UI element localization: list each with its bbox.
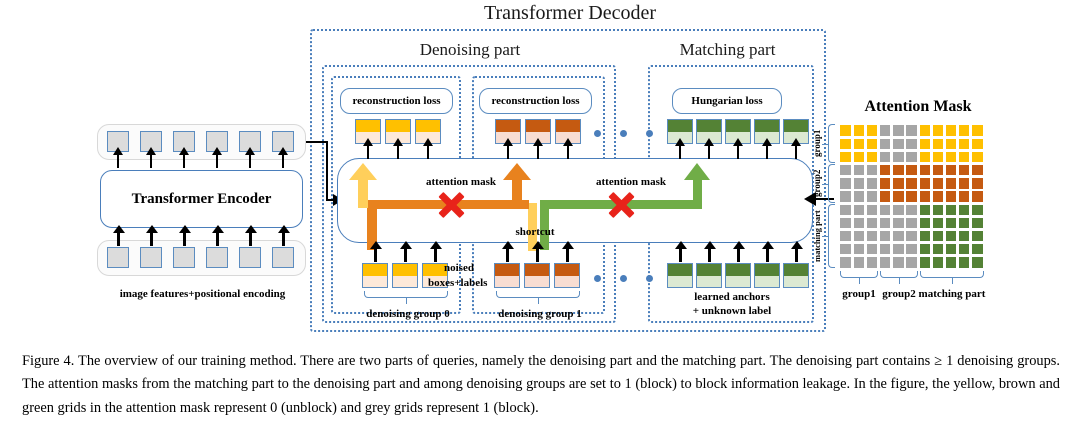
mask-cell (905, 190, 918, 203)
ellipsis-dot-bottom (620, 275, 627, 282)
transformer-encoder-box: Transformer Encoder (100, 170, 303, 228)
mask-cell (918, 137, 931, 150)
yellow-up-bar (358, 178, 368, 208)
ellipsis-dot-top (646, 130, 653, 137)
mask-cell (958, 243, 971, 256)
mask-cell (931, 216, 944, 229)
input-arrow-dn-group1 (566, 248, 569, 262)
output-arrow-matching (795, 145, 797, 159)
mask-cell (879, 190, 892, 203)
yellow-arrow-head (349, 163, 377, 180)
mask-cell (971, 190, 984, 203)
mask-cell (879, 230, 892, 243)
input-token-matching (725, 263, 751, 288)
ellipsis-dot-top (620, 130, 627, 137)
mask-cell (958, 137, 971, 150)
noised-label-line2: boxes+labels (428, 277, 487, 289)
mask-cell (945, 203, 958, 216)
mask-cell (852, 256, 865, 269)
mask-cell (852, 230, 865, 243)
output-arrow-dn-group0 (427, 145, 429, 159)
mask-cell (958, 216, 971, 229)
mask-cell (905, 137, 918, 150)
mask-cell (865, 216, 878, 229)
mask-cell (918, 243, 931, 256)
mask-cell (918, 230, 931, 243)
output-arrow-dn-group1 (567, 145, 569, 159)
hungarian-loss-box: Hungarian loss (672, 88, 782, 114)
mask-cell (918, 216, 931, 229)
output-arrow-dn-group0 (367, 145, 369, 159)
mask-cell (892, 216, 905, 229)
mask-cell (918, 256, 931, 269)
encoder-input-arrow (117, 232, 120, 246)
mask-cell (945, 190, 958, 203)
mask-cell (958, 230, 971, 243)
mask-cell (905, 256, 918, 269)
output-arrow-matching (679, 145, 681, 159)
mask-cell (839, 150, 852, 163)
mask-cell (839, 216, 852, 229)
encoder-output-arrow (150, 154, 152, 168)
mask-row-brace-matching (828, 204, 835, 268)
output-arrow-matching (708, 145, 710, 159)
mask-cell (971, 177, 984, 190)
mask-cell (945, 243, 958, 256)
mask-cell (918, 124, 931, 137)
mask-col-brace-matching (920, 271, 984, 278)
mask-cell (879, 177, 892, 190)
mask-cell (931, 177, 944, 190)
mask-cell (892, 150, 905, 163)
input-arrow-dn-group1 (506, 248, 509, 262)
encoder-output-arrow (282, 154, 284, 168)
mask-cell (931, 164, 944, 177)
input-arrow-matching (766, 248, 769, 262)
input-arrow-matching (679, 248, 682, 262)
encoder-input-arrow (216, 232, 219, 246)
encoder-input-label: image features+positional encoding (85, 288, 320, 300)
mask-cell (945, 230, 958, 243)
mask-cell (931, 203, 944, 216)
input-arrow-dn-group0 (404, 248, 407, 262)
mask-cell (945, 256, 958, 269)
output-arrow-dn-group1 (507, 145, 509, 159)
reconstruction-loss-box-group1: reconstruction loss (479, 88, 592, 114)
mask-cell (945, 216, 958, 229)
mask-cell (958, 124, 971, 137)
mask-cell (865, 124, 878, 137)
mask-cell (931, 230, 944, 243)
encoder-input-arrow (249, 232, 252, 246)
mask-cell (931, 150, 944, 163)
reconstruction-loss-box-group0: reconstruction loss (340, 88, 453, 114)
learned-anchors-label-line1: learned anchors (672, 291, 792, 303)
encoder-input-token (173, 247, 195, 268)
attention-mask-title: Attention Mask (828, 98, 1008, 116)
mask-cell (852, 150, 865, 163)
encoder-input-token (206, 247, 228, 268)
mask-cell (892, 164, 905, 177)
attention-mask-grid (839, 124, 984, 269)
mask-cell (892, 230, 905, 243)
mask-cell (918, 177, 931, 190)
attention-mask-label-right: attention mask (576, 176, 686, 188)
encoder-to-decoder-line (326, 141, 328, 200)
mask-cell (905, 203, 918, 216)
attention-mask-label-left: attention mask (406, 176, 516, 188)
mask-cell (839, 177, 852, 190)
encoder-output-arrow (183, 154, 185, 168)
mask-cell (879, 150, 892, 163)
learned-anchors-label-line2: + unknown label (672, 305, 792, 317)
mask-cell (971, 230, 984, 243)
mask-cell (879, 256, 892, 269)
mask-row-brace-group1 (828, 124, 835, 163)
mask-cell (892, 177, 905, 190)
mask-cell (931, 137, 944, 150)
ellipsis-dot-bottom (594, 275, 601, 282)
mask-col-label-matching: matching part (917, 288, 987, 300)
mask-cell (971, 150, 984, 163)
mask-cell (905, 177, 918, 190)
mask-cell (865, 164, 878, 177)
mask-cell (839, 243, 852, 256)
mask-cell (839, 190, 852, 203)
mask-cell (879, 216, 892, 229)
input-token-dn-group0 (392, 263, 418, 288)
mask-row-brace-group2 (828, 164, 835, 203)
mask-cell (879, 203, 892, 216)
mask-row-label-matching: matching part (812, 204, 822, 268)
noised-label-line1: noised (444, 262, 474, 274)
mask-cell (852, 203, 865, 216)
encoder-to-decoder-line (306, 141, 328, 143)
output-arrow-dn-group1 (537, 145, 539, 159)
mask-cell (892, 243, 905, 256)
mask-cell (892, 124, 905, 137)
encoder-output-arrow (249, 154, 251, 168)
mask-cell (918, 203, 931, 216)
mask-cell (958, 177, 971, 190)
mask-cell (892, 256, 905, 269)
mask-cell (971, 124, 984, 137)
input-token-matching (696, 263, 722, 288)
shortcut-label: shortcut (500, 226, 570, 238)
input-arrow-matching (708, 248, 711, 262)
mask-cell (879, 164, 892, 177)
mask-cell (865, 177, 878, 190)
mask-cell (839, 124, 852, 137)
mask-cell (958, 190, 971, 203)
mask-cell (958, 256, 971, 269)
output-arrow-matching (766, 145, 768, 159)
mask-cell (852, 177, 865, 190)
encoder-input-arrow (183, 232, 186, 246)
mask-col-brace-group1 (840, 271, 878, 278)
input-arrow-dn-group0 (434, 248, 437, 262)
mask-cell (945, 137, 958, 150)
encoder-input-token (272, 247, 294, 268)
mask-cell (945, 150, 958, 163)
mask-cell (931, 124, 944, 137)
mask-cell (945, 164, 958, 177)
mask-cell (839, 203, 852, 216)
encoder-input-arrow (150, 232, 153, 246)
mask-cell (971, 203, 984, 216)
input-arrow-dn-group1 (536, 248, 539, 262)
mask-cell (852, 216, 865, 229)
mask-cell (892, 203, 905, 216)
input-token-dn-group1 (554, 263, 580, 288)
figure-caption: Figure 4. The overview of our training m… (22, 350, 1060, 420)
mask-cell (918, 150, 931, 163)
mask-cell (905, 230, 918, 243)
mask-cell (865, 243, 878, 256)
input-token-matching (783, 263, 809, 288)
mask-cell (905, 164, 918, 177)
mask-col-brace-group2 (880, 271, 918, 278)
mask-cell (945, 177, 958, 190)
mask-cell (931, 256, 944, 269)
attention-mask-block-x-left (437, 191, 465, 219)
decoder-title: Transformer Decoder (310, 2, 830, 25)
mask-cell (971, 243, 984, 256)
encoder-input-arrow (282, 232, 285, 246)
mask-cell (865, 190, 878, 203)
denoising-group-1-brace (496, 291, 580, 298)
figure-canvas: Transformer Decoder Denoising part Match… (0, 0, 1080, 345)
mask-cell (852, 137, 865, 150)
mask-cell (839, 230, 852, 243)
ellipsis-dot-bottom (646, 275, 653, 282)
mask-cell (918, 190, 931, 203)
ellipsis-dot-top (594, 130, 601, 137)
mask-cell (931, 243, 944, 256)
mask-cell (958, 164, 971, 177)
green-up-bar (693, 178, 702, 208)
mask-cell (945, 124, 958, 137)
encoder-input-token (239, 247, 261, 268)
encoder-input-token (107, 247, 129, 268)
mask-cell (865, 203, 878, 216)
mask-row-label-group2: group2 (812, 164, 822, 203)
input-arrow-dn-group0 (374, 248, 377, 262)
input-token-dn-group1 (494, 263, 520, 288)
mask-cell (839, 256, 852, 269)
mask-cell (839, 137, 852, 150)
input-arrow-matching (737, 248, 740, 262)
mask-cell (918, 164, 931, 177)
mask-cell (865, 230, 878, 243)
mask-cell (852, 190, 865, 203)
mask-cell (879, 124, 892, 137)
output-arrow-dn-group0 (397, 145, 399, 159)
input-arrow-matching (795, 248, 798, 262)
mask-cell (852, 124, 865, 137)
mask-cell (971, 216, 984, 229)
input-token-matching (667, 263, 693, 288)
mask-cell (852, 243, 865, 256)
encoder-output-arrow (216, 154, 218, 168)
mask-cell (905, 216, 918, 229)
input-token-dn-group0 (362, 263, 388, 288)
mask-cell (865, 137, 878, 150)
mask-cell (852, 164, 865, 177)
mask-cell (865, 256, 878, 269)
output-arrow-matching (737, 145, 739, 159)
mask-cell (892, 190, 905, 203)
mask-cell (958, 203, 971, 216)
mask-cell (971, 137, 984, 150)
mask-cell (905, 243, 918, 256)
mask-cell (971, 256, 984, 269)
mask-cell (905, 124, 918, 137)
denoising-group-0-label: denoising group 0 (348, 308, 468, 320)
input-token-matching (754, 263, 780, 288)
green-arrow-head (684, 163, 710, 180)
encoder-input-token (140, 247, 162, 268)
mask-cell (839, 164, 852, 177)
mask-cell (892, 137, 905, 150)
input-token-dn-group1 (524, 263, 550, 288)
mask-cell (865, 150, 878, 163)
mask-cell (879, 137, 892, 150)
mask-cell (905, 150, 918, 163)
mask-row-label-group1: group1 (812, 124, 822, 163)
denoising-group-1-label: denoising group 1 (480, 308, 600, 320)
mask-cell (971, 164, 984, 177)
encoder-output-arrow (117, 154, 119, 168)
mask-cell (879, 243, 892, 256)
mask-cell (958, 150, 971, 163)
denoising-group-0-brace (364, 291, 448, 298)
attention-mask-block-x-right (607, 191, 635, 219)
mask-cell (931, 190, 944, 203)
